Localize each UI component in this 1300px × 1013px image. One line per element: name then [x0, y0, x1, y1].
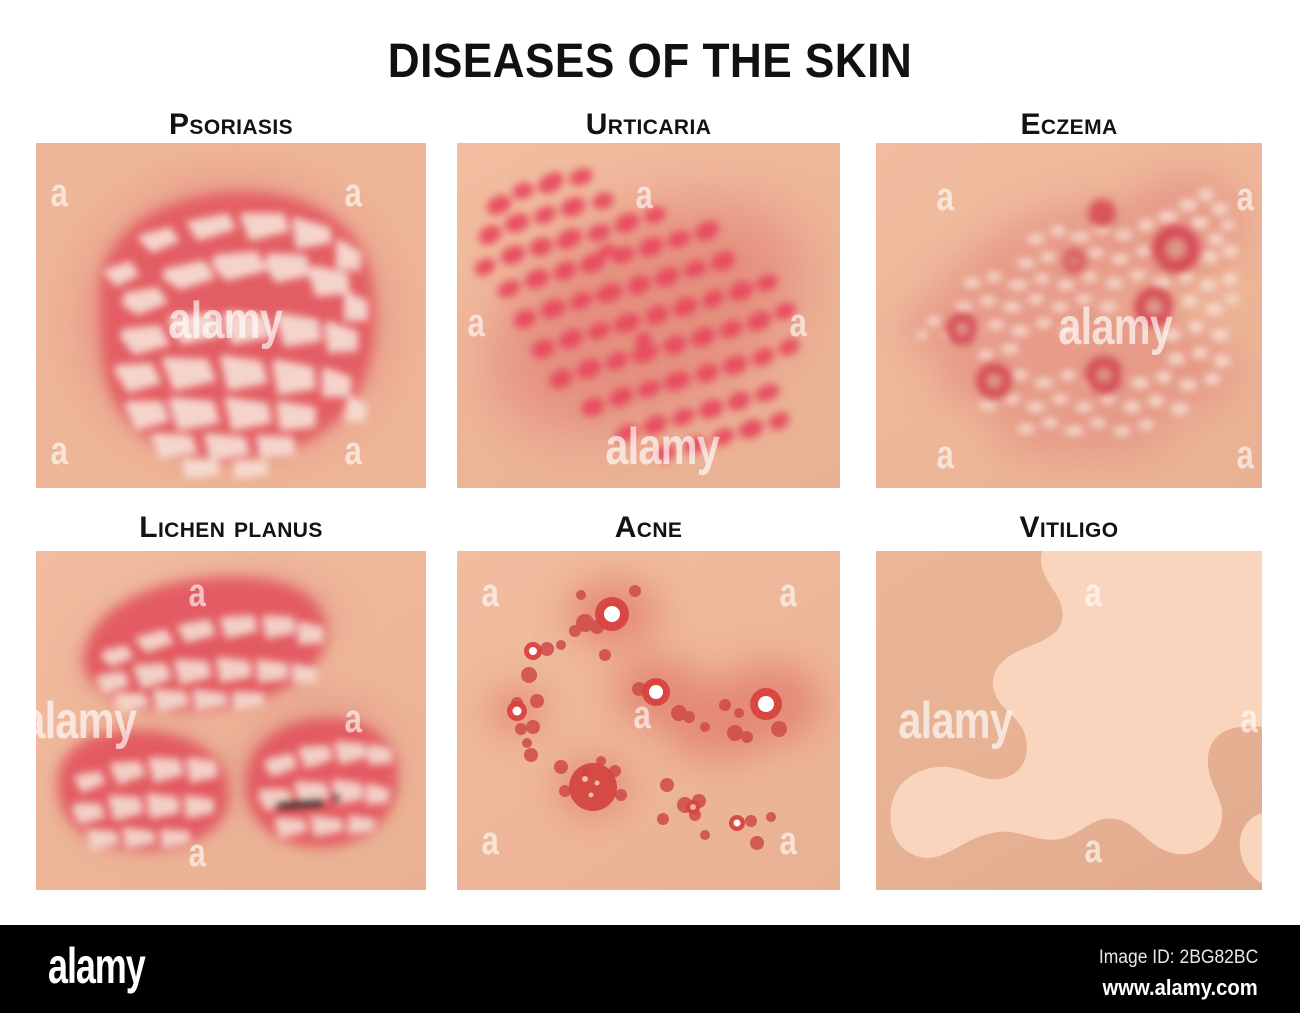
- ring-lesions-eczema: [876, 143, 1262, 488]
- panel-label-eczema: Eczema: [876, 108, 1262, 142]
- footer-bar: alamy Image ID: 2BG82BC www.alamy.com: [0, 925, 1300, 1013]
- infographic-canvas: DISEASES OF THE SKIN Psoriasis Urticaria…: [0, 0, 1300, 1013]
- panel-label-vitiligo: Vitiligo: [876, 511, 1262, 545]
- panel-label-acne-text: Acne: [615, 511, 683, 544]
- panel-vitiligo: a a a alamy: [876, 551, 1262, 890]
- scale-texture-lichen-planus: [36, 551, 426, 890]
- image-id-label: Image ID: 2BG82BC: [1099, 947, 1258, 969]
- panel-label-eczema-text: Eczema: [1020, 108, 1117, 141]
- panel-acne: a a a a a: [457, 551, 840, 890]
- panel-label-psoriasis-text: Psoriasis: [169, 108, 293, 141]
- panel-label-lichen-planus: Lichen planus: [36, 511, 426, 545]
- panel-label-urticaria-text: Urticaria: [586, 108, 712, 141]
- panel-urticaria: a a a alamy: [457, 143, 840, 488]
- page-title: DISEASES OF THE SKIN: [52, 34, 1248, 89]
- panel-label-vitiligo-text: Vitiligo: [1019, 511, 1118, 544]
- panel-eczema: a a a a alamy: [876, 143, 1262, 488]
- panel-label-urticaria: Urticaria: [457, 108, 840, 142]
- panel-label-lichen-planus-text: Lichen planus: [139, 511, 323, 544]
- wheals-urticaria: [457, 143, 840, 488]
- depigmented-patches-vitiligo: [876, 551, 1262, 890]
- panel-label-acne: Acne: [457, 511, 840, 545]
- alamy-logo[interactable]: alamy: [48, 941, 145, 991]
- papules-pustules-acne: [457, 551, 840, 890]
- panel-lichen-planus: a a a alamy: [36, 551, 426, 890]
- scale-flakes-psoriasis: [36, 143, 426, 488]
- panel-label-psoriasis: Psoriasis: [36, 108, 426, 142]
- panel-psoriasis: a a a a alamy: [36, 143, 426, 488]
- alamy-url[interactable]: www.alamy.com: [1103, 975, 1258, 1001]
